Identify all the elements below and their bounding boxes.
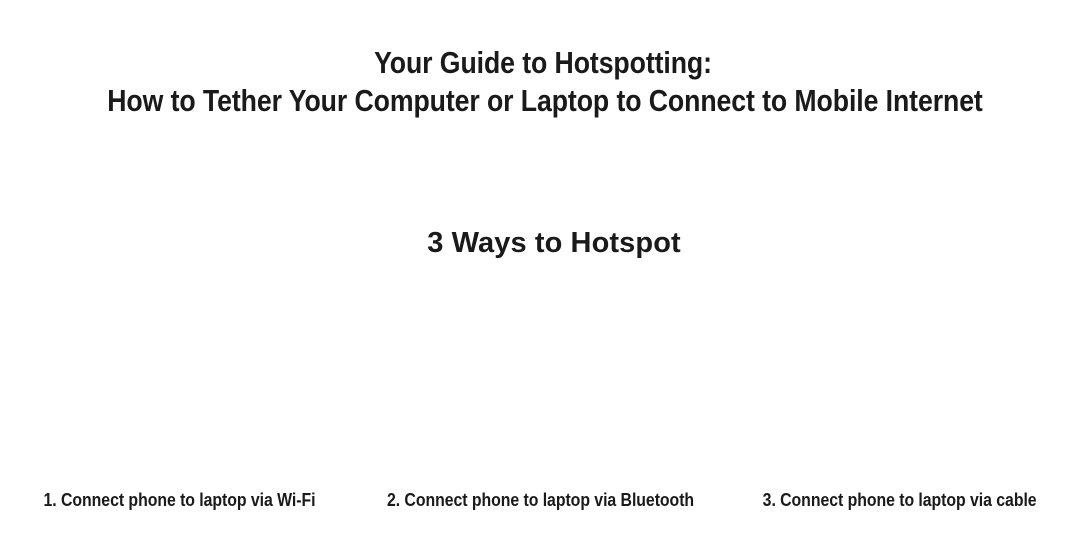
step-3-image xyxy=(720,272,1080,476)
step-2-caption: 2. Connect phone to laptop via Bluetooth xyxy=(360,489,720,511)
section-heading-text: 3 Ways to Hotspot xyxy=(427,225,681,261)
page-title-line-1: Your Guide to Hotspotting: xyxy=(81,44,1005,82)
step-3-caption-text: 3. Connect phone to laptop via cable xyxy=(763,489,1037,511)
step-1-caption-text: 1. Connect phone to laptop via Wi-Fi xyxy=(44,489,316,511)
article-page: Your Guide to Hotspotting: How to Tether… xyxy=(0,0,1080,552)
step-2-caption-text: 2. Connect phone to laptop via Bluetooth xyxy=(386,489,693,511)
steps-illustration-row xyxy=(0,272,1080,476)
page-title: Your Guide to Hotspotting: How to Tether… xyxy=(0,44,1080,120)
step-2-image xyxy=(360,272,720,476)
section-heading: 3 Ways to Hotspot xyxy=(0,225,1080,261)
page-title-line-2: How to Tether Your Computer or Laptop to… xyxy=(85,82,1005,120)
step-1-caption: 1. Connect phone to laptop via Wi-Fi xyxy=(0,489,360,511)
step-3-caption: 3. Connect phone to laptop via cable xyxy=(720,489,1080,511)
step-1-image xyxy=(0,272,360,476)
step-caption-row: 1. Connect phone to laptop via Wi-Fi 2. … xyxy=(0,489,1080,511)
